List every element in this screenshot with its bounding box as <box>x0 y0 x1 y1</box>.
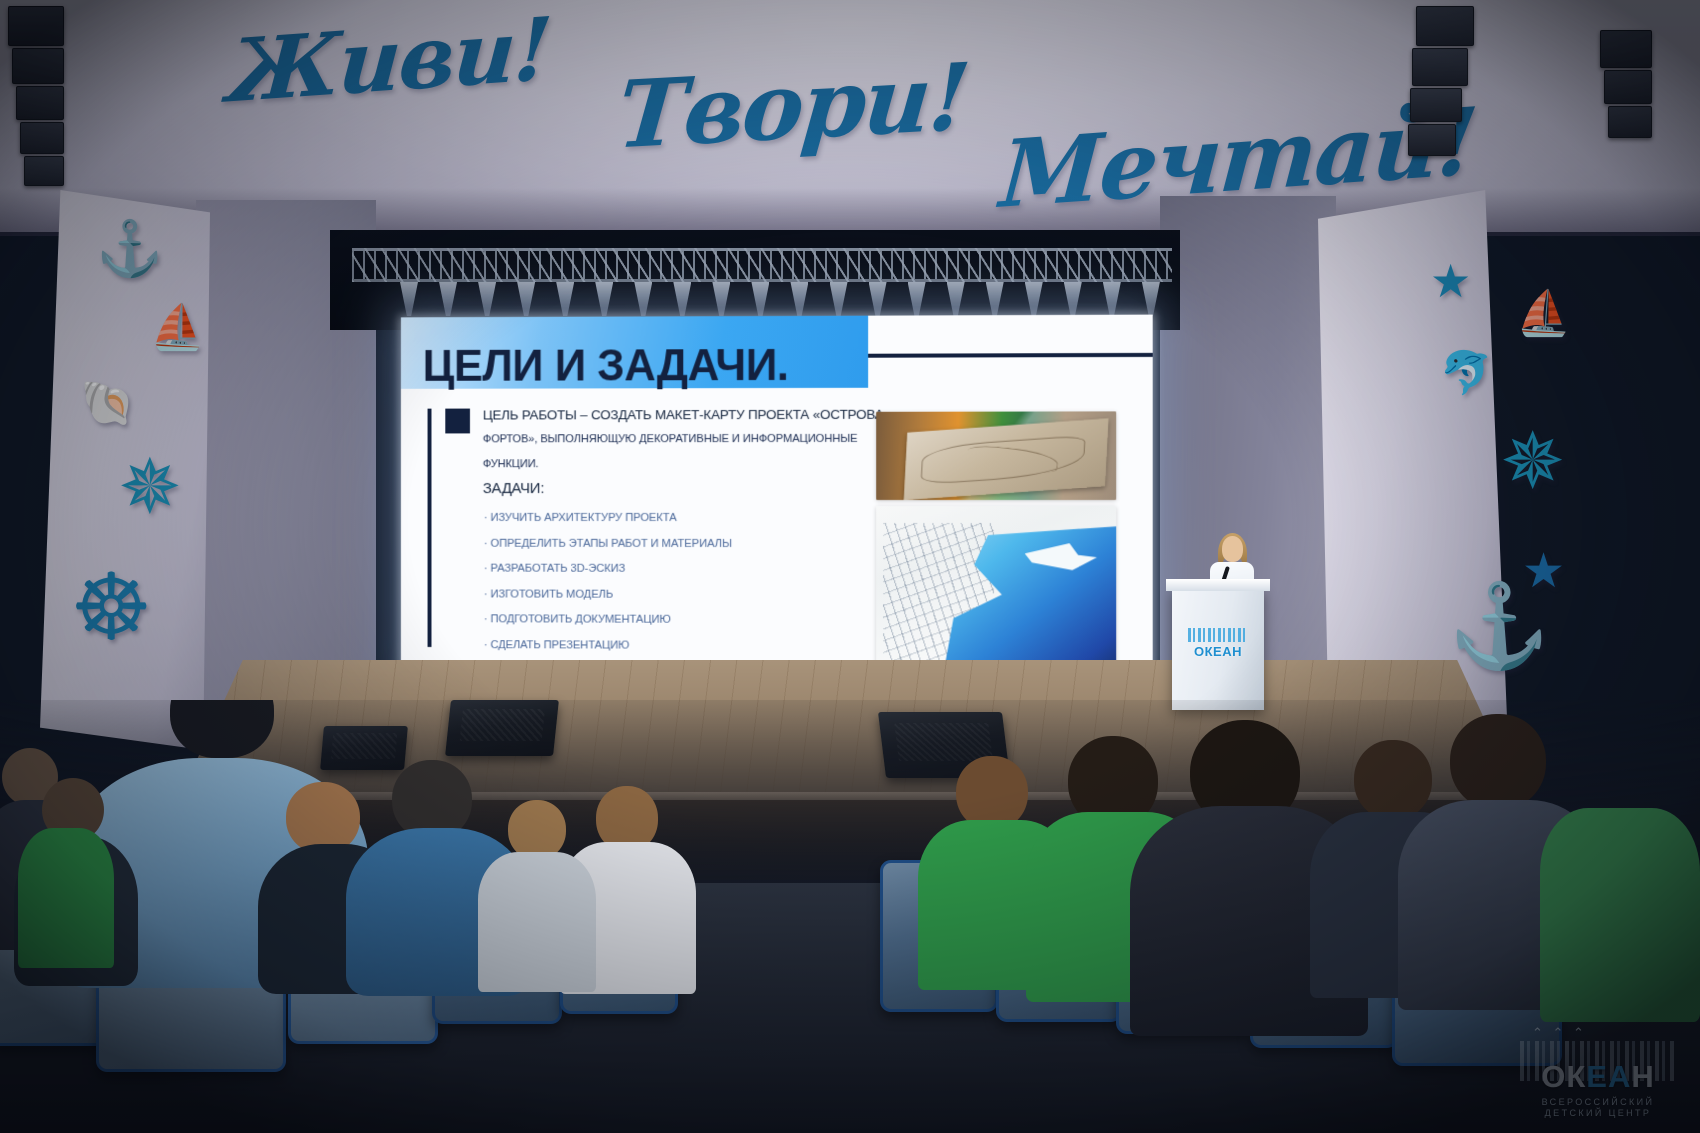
watermark-subtitle-line1: ВСЕРОССИЙСКИЙ <box>1542 1097 1655 1108</box>
seashell-icon: 🐚 <box>80 382 135 426</box>
auditorium-photo: Живи! Твори! Мечтай! ⚓ ⛵ 🐚 ✵ ☸ ★ ⛵ 🐬 ✵ ★… <box>0 0 1700 1133</box>
anchor-icon: ⚓ <box>96 222 163 276</box>
auditorium-seating: ⌃ ⌃ ⌃ ОКЕАН ВСЕРОССИЙСКИЙ ДЕТСКИЙ ЦЕНТР <box>0 700 1700 1133</box>
watermark-subtitle: ВСЕРОССИЙСКИЙ ДЕТСКИЙ ЦЕНТР <box>1542 1097 1655 1119</box>
slide-title: ЦЕЛИ И ЗАДАЧИ. <box>423 344 789 389</box>
ship-wheel-icon: ☸ <box>70 562 152 654</box>
watermark-name: ОКЕАН <box>1541 1059 1655 1095</box>
podium-logo: ОКЕАН <box>1184 636 1252 666</box>
wall-slogan-tvori: Твори! <box>613 43 972 170</box>
list-item: СДЕЛАТЬ ПРЕЗЕНТАЦИЮ <box>484 633 852 660</box>
list-item: ИЗГОТОВИТЬ МОДЕЛЬ <box>484 582 852 608</box>
watermark-logo: ⌃ ⌃ ⌃ ОКЕАН ВСЕРОССИЙСКИЙ ДЕТСКИЙ ЦЕНТР <box>1514 1023 1682 1119</box>
slide-header-rule <box>868 353 1153 358</box>
goal-line-1: ЦЕЛЬ РАБОТЫ – СОЗДАТЬ МАКЕТ-КАРТУ ПРОЕКТ… <box>483 402 846 428</box>
list-item: ИЗУЧИТЬ АРХИТЕКТУРУ ПРОЕКТА <box>484 506 852 532</box>
compass-rose-icon: ✵ <box>118 450 182 526</box>
tasks-list: ИЗУЧИТЬ АРХИТЕКТУРУ ПРОЕКТА ОПРЕДЕЛИТЬ Э… <box>484 506 852 659</box>
watermark-subtitle-line2: ДЕТСКИЙ ЦЕНТР <box>1542 1108 1655 1119</box>
sailboat-icon: ⛵ <box>1516 292 1571 336</box>
sailboat-icon: ⛵ <box>150 306 205 350</box>
bullet-square-marker <box>445 409 470 434</box>
accent-vertical-line <box>428 409 432 647</box>
watercolor-plan-map-photo <box>876 506 1116 675</box>
goal-line-2: ФОРТОВ», ВЫПОЛНЯЮЩУЮ ДЕКОРАТИВНЫЕ И ИНФО… <box>483 427 846 452</box>
watermark-name-mid: ЕА <box>1586 1059 1631 1094</box>
anchor-rope-icon: ⚓ <box>1448 586 1550 668</box>
watermark-name-right: Н <box>1631 1059 1654 1094</box>
starfish-icon: ★ <box>1430 258 1471 304</box>
tasks-heading: ЗАДАЧИ: <box>483 480 544 497</box>
goal-paragraph: ЦЕЛЬ РАБОТЫ – СОЗДАТЬ МАКЕТ-КАРТУ ПРОЕКТ… <box>483 402 846 477</box>
list-item: ОПРЕДЕЛИТЬ ЭТАПЫ РАБОТ И МАТЕРИАЛЫ <box>484 531 852 557</box>
watermark-name-left: ОК <box>1541 1059 1586 1094</box>
podium-logo-text: ОКЕАН <box>1194 644 1242 659</box>
dolphin-icon: 🐬 <box>1440 352 1492 394</box>
seagulls-icon: ⌃ ⌃ ⌃ <box>1532 1025 1587 1041</box>
goal-line-3: ФУНКЦИИ. <box>483 452 846 477</box>
list-item: РАЗРАБОТАТЬ 3D-ЭСКИЗ <box>484 557 852 583</box>
wooden-model-map-photo <box>876 411 1116 500</box>
slide-body: ЦЕЛЬ РАБОТЫ – СОЗДАТЬ МАКЕТ-КАРТУ ПРОЕКТ… <box>401 393 1153 687</box>
podium: ОКЕАН <box>1172 588 1264 710</box>
projection-screen: ЦЕЛИ И ЗАДАЧИ. ЦЕЛЬ РАБОТЫ – СОЗДАТЬ МАК… <box>401 315 1153 688</box>
list-item: ПОДГОТОВИТЬ ДОКУМЕНТАЦИЮ <box>484 607 852 633</box>
compass-rose-icon: ✵ <box>1500 422 1565 500</box>
truss-bracing <box>352 248 1172 282</box>
stage-light-row <box>400 282 1160 318</box>
